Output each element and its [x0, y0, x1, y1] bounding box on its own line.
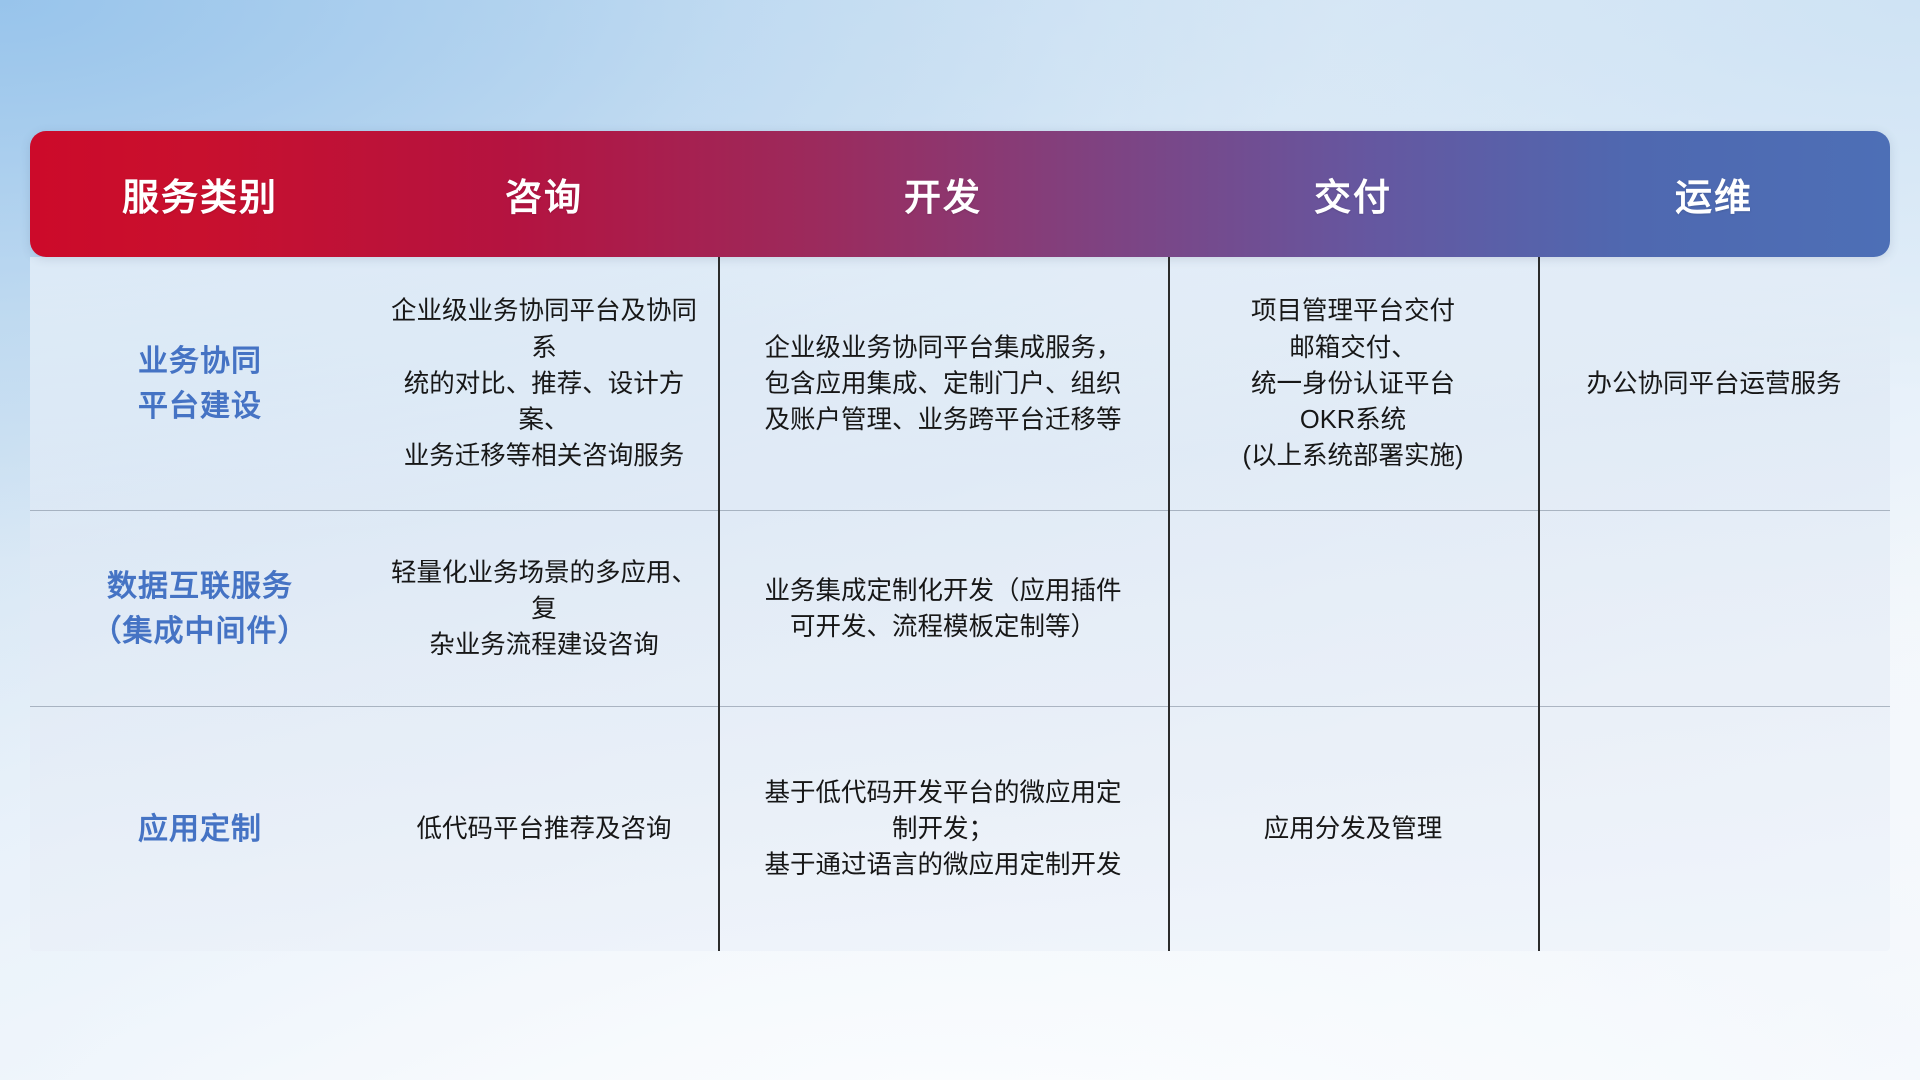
table-row: 数据互联服务 （集成中间件） 轻量化业务场景的多应用、复 杂业务流程建设咨询 业… — [30, 511, 1890, 707]
cell-delivery: 应用分发及管理 — [1168, 805, 1538, 853]
service-matrix-table: 服务类别 咨询 开发 交付 运维 业务协同 平台建设 企业级业务协同平台及协同系… — [30, 131, 1890, 951]
row-category-label: 数据互联服务 （集成中间件） — [30, 558, 370, 660]
cell-delivery: 项目管理平台交付 邮箱交付、 统一身份认证平台 OKR系统 (以上系统部署实施) — [1168, 287, 1538, 480]
cell-consulting: 轻量化业务场景的多应用、复 杂业务流程建设咨询 — [370, 549, 718, 670]
column-divider-consulting-development — [718, 257, 720, 951]
cell-consulting: 企业级业务协同平台及协同系 统的对比、推荐、设计方案、 业务迁移等相关咨询服务 — [370, 287, 718, 480]
cell-delivery — [1168, 603, 1538, 615]
cell-consulting: 低代码平台推荐及咨询 — [370, 805, 718, 853]
row-divider — [30, 706, 1890, 707]
cell-development: 业务集成定制化开发（应用插件 可开发、流程模板定制等） — [718, 567, 1168, 651]
cell-development: 企业级业务协同平台集成服务， 包含应用集成、定制门户、组织 及账户管理、业务跨平… — [718, 324, 1168, 445]
cell-operations — [1538, 823, 1890, 835]
table-row: 应用定制 低代码平台推荐及咨询 基于低代码开发平台的微应用定 制开发； 基于通过… — [30, 707, 1890, 951]
row-divider — [30, 510, 1890, 511]
cell-operations — [1538, 603, 1890, 615]
row-category-label: 应用定制 — [30, 801, 370, 858]
cell-operations: 办公协同平台运营服务 — [1538, 360, 1890, 408]
table-body: 业务协同 平台建设 企业级业务协同平台及协同系 统的对比、推荐、设计方案、 业务… — [30, 257, 1890, 951]
cell-development: 基于低代码开发平台的微应用定 制开发； 基于通过语言的微应用定制开发 — [718, 769, 1168, 890]
table-header-band — [30, 131, 1890, 257]
slide-canvas: 服务类别 咨询 开发 交付 运维 业务协同 平台建设 企业级业务协同平台及协同系… — [0, 0, 1920, 1080]
row-category-label: 业务协同 平台建设 — [30, 333, 370, 435]
column-divider-development-delivery — [1168, 257, 1170, 951]
table-row: 业务协同 平台建设 企业级业务协同平台及协同系 统的对比、推荐、设计方案、 业务… — [30, 257, 1890, 511]
column-divider-delivery-operations — [1538, 257, 1540, 951]
